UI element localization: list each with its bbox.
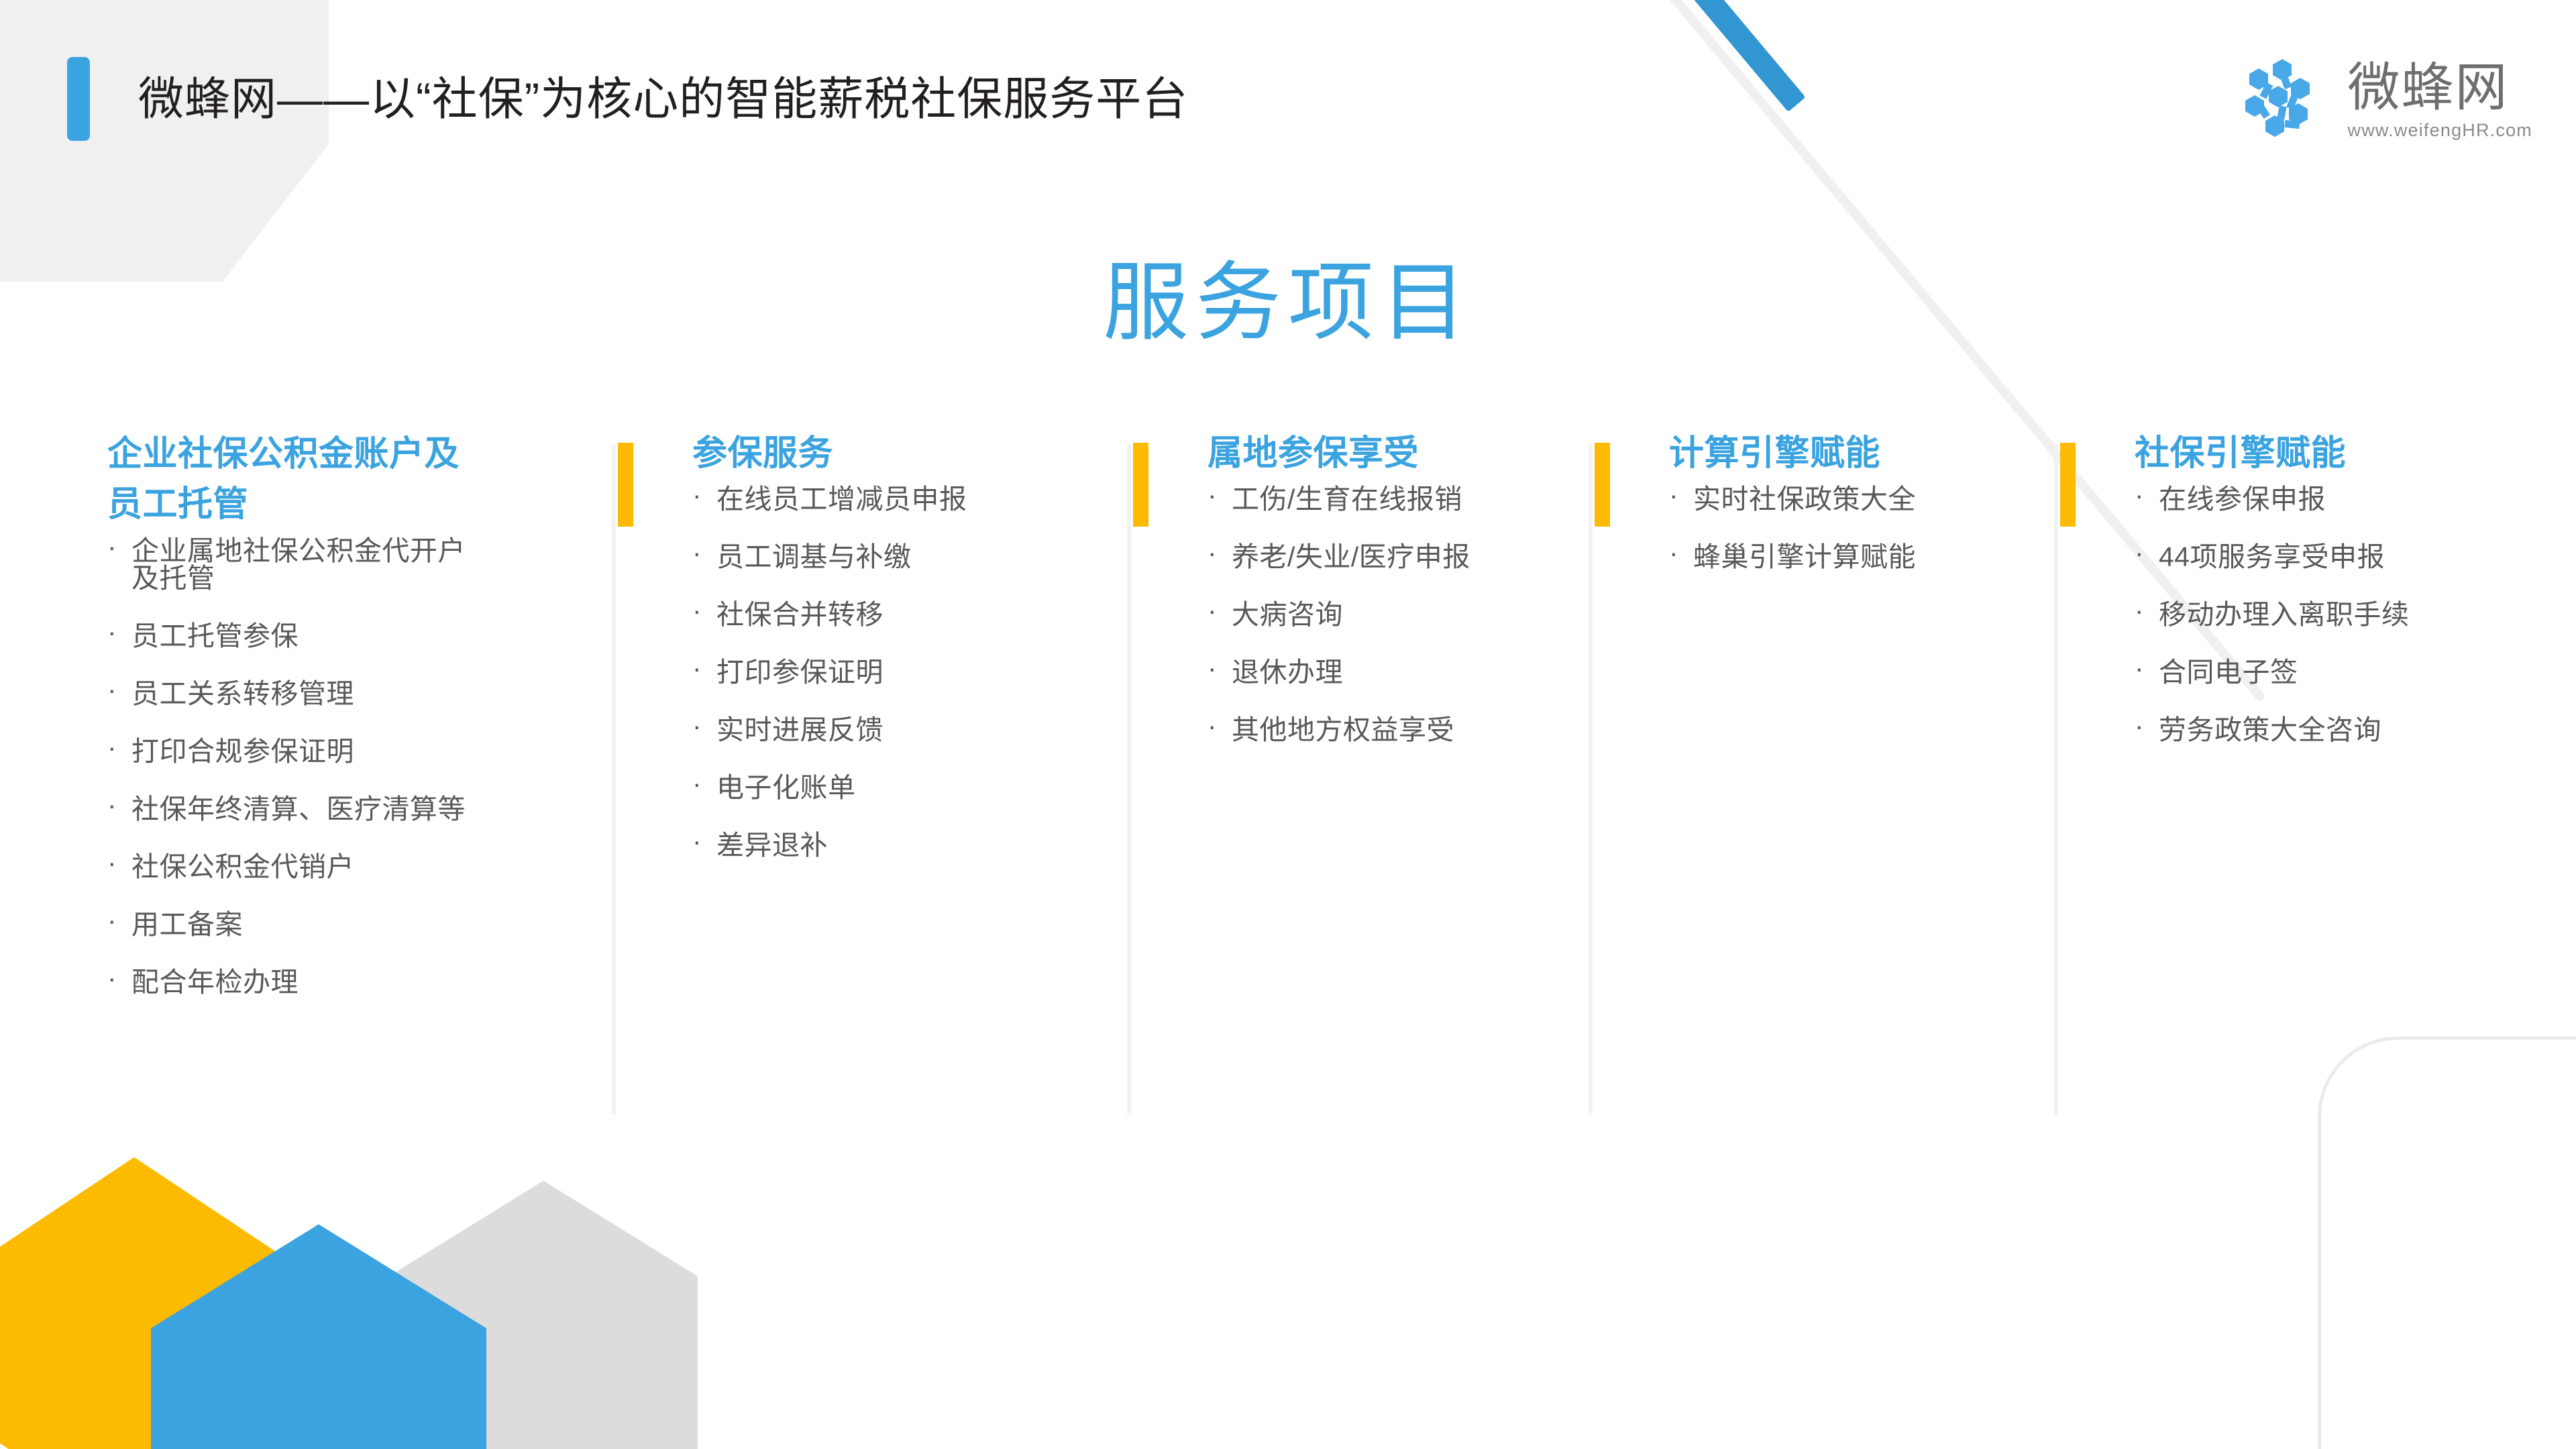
service-column-3-list: ·工伤/生育在线报销 ·养老/失业/医疗申报 ·大病咨询 ·退休办理 ·其他地方… xyxy=(1207,486,1570,744)
list-item: ·劳务政策大全咨询 xyxy=(2135,716,2524,744)
slide-header: 微蜂网——以“社保”为核心的智能薪税社保服务平台 xyxy=(0,57,1188,141)
list-item: ·用工备案 xyxy=(107,911,590,938)
service-column-2-list: ·在线员工增减员申报 ·员工调基与补缴 ·社保合并转移 ·打印参保证明 ·实时进… xyxy=(692,486,1081,859)
bullet-dot-icon: · xyxy=(107,849,117,877)
bullet-dot-icon: · xyxy=(1207,712,1217,740)
list-item-label: 在线员工增减员申报 xyxy=(716,484,967,515)
bullet-dot-icon: · xyxy=(692,597,702,625)
list-item: ·实时进展反馈 xyxy=(692,716,1081,744)
service-column-4: 计算引擎赋能 ·实时社保政策大全 ·蜂巢引擎计算赋能 xyxy=(1589,429,2031,601)
header-title: 微蜂网——以“社保”为核心的智能薪税社保服务平台 xyxy=(138,76,1188,122)
list-item-label: 电子化账单 xyxy=(716,772,856,803)
service-column-3-heading: 属地参保享受 xyxy=(1207,429,1570,479)
list-item: ·社保公积金代销户 xyxy=(107,853,590,881)
list-item-label: 企业属地社保公积金代开户 及托管 xyxy=(131,535,466,594)
bullet-dot-icon: · xyxy=(107,907,117,934)
column-divider-line-2 xyxy=(612,444,616,1115)
list-item: ·在线员工增减员申报 xyxy=(692,486,1081,513)
header-accent-bar xyxy=(67,57,90,141)
list-item: ·合同电子签 xyxy=(2135,659,2524,686)
bullet-dot-icon: · xyxy=(692,539,702,567)
list-item-label: 配合年检办理 xyxy=(131,967,299,998)
list-item: ·其他地方权益享受 xyxy=(1207,716,1570,744)
list-item-label: 员工托管参保 xyxy=(131,621,299,651)
list-item-label: 其他地方权益享受 xyxy=(1232,714,1454,745)
list-item: ·移动办理入离职手续 xyxy=(2135,601,2524,629)
list-item: ·员工调基与补缴 xyxy=(692,543,1081,571)
bullet-dot-icon: · xyxy=(692,712,702,740)
top-left-gray-panel-shape xyxy=(0,0,329,282)
list-item-label: 社保公积金代销户 xyxy=(131,851,354,882)
bullet-dot-icon: · xyxy=(107,734,117,761)
list-item-label: 养老/失业/医疗申报 xyxy=(1232,541,1470,572)
bullet-dot-icon: · xyxy=(1207,597,1217,625)
bullet-dot-icon: · xyxy=(692,828,702,855)
list-item: ·打印参保证明 xyxy=(692,659,1081,686)
list-item-label: 蜂巢引擎计算赋能 xyxy=(1693,541,1916,572)
slide-root: 微蜂网——以“社保”为核心的智能薪税社保服务平台 微蜂网 www xyxy=(0,0,2576,1449)
service-column-2-heading: 参保服务 xyxy=(692,429,1081,479)
list-item-label: 用工备案 xyxy=(131,909,243,940)
logo-website-url: www.weifengHR.com xyxy=(2348,120,2532,141)
service-column-1-heading: 企业社保公积金账户及 员工托管 xyxy=(107,429,590,531)
list-item-label: 员工调基与补缴 xyxy=(716,541,912,572)
list-item: ·退休办理 xyxy=(1207,659,1570,686)
hexagon-dots-logo-icon xyxy=(2237,54,2337,148)
page-title: 服务项目 xyxy=(0,256,2576,351)
bullet-dot-icon: · xyxy=(1207,655,1217,682)
list-item-label: 在线参保申报 xyxy=(2159,484,2326,515)
list-item: ·工伤/生育在线报销 xyxy=(1207,486,1570,513)
service-columns: 企业社保公积金账户及 员工托管 ·企业属地社保公积金代开户 及托管 ·员工托管参… xyxy=(0,429,2576,1134)
service-column-3: 属地参保享受 ·工伤/生育在线报销 ·养老/失业/医疗申报 ·大病咨询 ·退休办… xyxy=(1127,429,1570,774)
list-item: ·养老/失业/医疗申报 xyxy=(1207,543,1570,571)
list-item: ·差异退补 xyxy=(692,832,1081,859)
list-item-label: 差异退补 xyxy=(716,830,828,861)
service-column-1-list: ·企业属地社保公积金代开户 及托管 ·员工托管参保 ·员工关系转移管理 ·打印合… xyxy=(107,537,590,996)
list-item: ·企业属地社保公积金代开户 及托管 xyxy=(107,537,590,592)
list-item-label: 移动办理入离职手续 xyxy=(2159,599,2410,630)
list-item: ·在线参保申报 xyxy=(2135,486,2524,513)
bullet-dot-icon: · xyxy=(692,655,702,682)
bullet-dot-icon: · xyxy=(107,676,117,704)
bullet-dot-icon: · xyxy=(2135,597,2144,625)
bullet-dot-icon: · xyxy=(2135,539,2144,567)
list-item-label: 打印合规参保证明 xyxy=(131,736,354,767)
column-divider-accent-bar-3 xyxy=(1133,443,1148,527)
list-item-label: 员工关系转移管理 xyxy=(131,678,354,709)
list-item: ·电子化账单 xyxy=(692,774,1081,802)
list-item-label: 社保年终清算、医疗清算等 xyxy=(131,794,466,824)
service-column-2: 参保服务 ·在线员工增减员申报 ·员工调基与补缴 ·社保合并转移 ·打印参保证明… xyxy=(612,429,1081,890)
list-item-label: 工伤/生育在线报销 xyxy=(1232,484,1462,515)
list-item: ·社保年终清算、医疗清算等 xyxy=(107,796,590,823)
bullet-dot-icon: · xyxy=(1669,539,1678,567)
list-item-label: 实时进展反馈 xyxy=(716,714,883,745)
column-divider-accent-bar-4 xyxy=(1595,443,1610,527)
service-column-5-list: ·在线参保申报 ·44项服务享受申报 ·移动办理入离职手续 ·合同电子签 ·劳务… xyxy=(2135,486,2524,744)
list-item-label: 社保合并转移 xyxy=(716,599,883,630)
list-item-label: 大病咨询 xyxy=(1232,599,1343,630)
list-item: ·社保合并转移 xyxy=(692,601,1081,629)
logo-company-name: 微蜂网 xyxy=(2348,61,2509,113)
list-item: ·员工关系转移管理 xyxy=(107,680,590,708)
bullet-dot-icon: · xyxy=(2135,712,2144,740)
brand-logo: 微蜂网 www.weifengHR.com xyxy=(2237,54,2532,148)
service-column-4-heading: 计算引擎赋能 xyxy=(1669,429,2031,479)
column-divider-line-5 xyxy=(2054,444,2058,1115)
logo-text-block: 微蜂网 www.weifengHR.com xyxy=(2348,61,2532,141)
column-divider-accent-bar-5 xyxy=(2060,443,2076,527)
service-column-4-body: 计算引擎赋能 ·实时社保政策大全 ·蜂巢引擎计算赋能 xyxy=(1589,429,2031,571)
bullet-dot-icon: · xyxy=(107,965,117,992)
column-divider-line-3 xyxy=(1127,444,1131,1115)
list-item-label: 44项服务享受申报 xyxy=(2159,541,2385,572)
bullet-dot-icon: · xyxy=(2135,482,2144,509)
bullet-dot-icon: · xyxy=(107,792,117,819)
list-item: ·44项服务享受申报 xyxy=(2135,543,2524,571)
bullet-dot-icon: · xyxy=(107,619,117,646)
list-item-label: 打印参保证明 xyxy=(716,657,883,688)
service-column-1: 企业社保公积金账户及 员工托管 ·企业属地社保公积金代开户 及托管 ·员工托管参… xyxy=(107,429,590,1026)
bullet-dot-icon: · xyxy=(692,770,702,798)
list-item-label: 退休办理 xyxy=(1232,657,1343,688)
list-item: ·实时社保政策大全 xyxy=(1669,486,2031,513)
service-column-5: 社保引擎赋能 ·在线参保申报 ·44项服务享受申报 ·移动办理入离职手续 ·合同… xyxy=(2054,429,2524,774)
list-item: ·配合年检办理 xyxy=(107,969,590,996)
bullet-dot-icon: · xyxy=(1669,482,1678,509)
bullet-dot-icon: · xyxy=(1207,539,1217,567)
bullet-dot-icon: · xyxy=(2135,655,2144,682)
bullet-dot-icon: · xyxy=(1207,482,1217,509)
list-item: ·大病咨询 xyxy=(1207,601,1570,629)
list-item-label: 合同电子签 xyxy=(2159,657,2298,688)
service-column-1-body: 企业社保公积金账户及 员工托管 ·企业属地社保公积金代开户 及托管 ·员工托管参… xyxy=(107,429,590,996)
list-item-label: 劳务政策大全咨询 xyxy=(2159,714,2381,745)
service-column-5-heading: 社保引擎赋能 xyxy=(2135,429,2524,479)
service-column-3-body: 属地参保享受 ·工伤/生育在线报销 ·养老/失业/医疗申报 ·大病咨询 ·退休办… xyxy=(1127,429,1570,744)
list-item-label: 实时社保政策大全 xyxy=(1693,484,1916,515)
bullet-dot-icon: · xyxy=(692,482,702,509)
bullet-dot-icon: · xyxy=(107,533,117,561)
list-item: ·员工托管参保 xyxy=(107,623,590,650)
list-item: ·打印合规参保证明 xyxy=(107,738,590,765)
service-column-5-body: 社保引擎赋能 ·在线参保申报 ·44项服务享受申报 ·移动办理入离职手续 ·合同… xyxy=(2054,429,2524,744)
service-column-4-list: ·实时社保政策大全 ·蜂巢引擎计算赋能 xyxy=(1669,486,2031,571)
list-item: ·蜂巢引擎计算赋能 xyxy=(1669,543,2031,571)
service-column-2-body: 参保服务 ·在线员工增减员申报 ·员工调基与补缴 ·社保合并转移 ·打印参保证明… xyxy=(612,429,1081,859)
column-divider-line-4 xyxy=(1589,444,1593,1115)
column-divider-accent-bar-2 xyxy=(618,443,633,527)
